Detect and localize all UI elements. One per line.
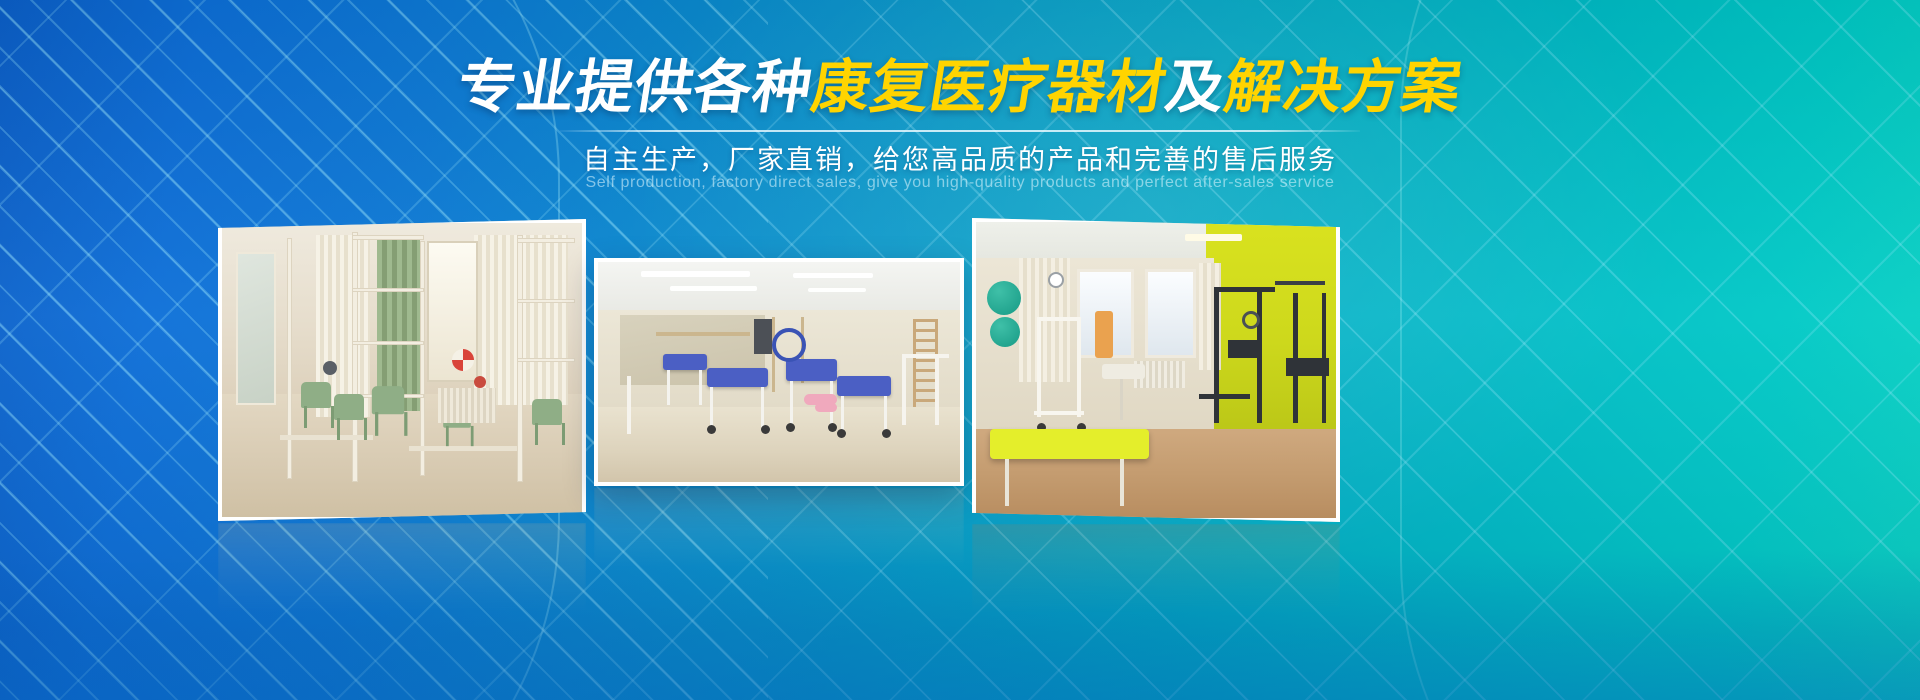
subtitle-english: Self production, factory direct sales, g… — [0, 174, 1920, 192]
headline-container: 专业提供各种康复医疗器材及解决方案 — [0, 58, 1920, 119]
photo-scene-left — [222, 223, 582, 517]
photo-scene-right — [976, 222, 1336, 518]
promo-banner: 专业提供各种康复医疗器材及解决方案 自主生产，厂家直销，给您高品质的产品和完善的… — [0, 0, 1920, 700]
photo-fitness-rehab-gym[interactable] — [972, 218, 1340, 522]
subtitle-chinese: 自主生产，厂家直销，给您高品质的产品和完善的售后服务 — [0, 138, 1920, 177]
headline-segment-2: 康复医疗器材 — [807, 55, 1171, 120]
page-title: 专业提供各种康复医疗器材及解决方案 — [454, 58, 1467, 119]
headline-segment-1: 专业提供各种 — [453, 55, 817, 120]
photo-rehab-training-room[interactable] — [218, 219, 586, 521]
photo-scene-center — [598, 262, 960, 482]
headline-segment-4: 解决方案 — [1221, 55, 1467, 120]
headline-divider — [560, 130, 1360, 132]
photo-therapy-equipment-hall[interactable] — [594, 258, 964, 486]
